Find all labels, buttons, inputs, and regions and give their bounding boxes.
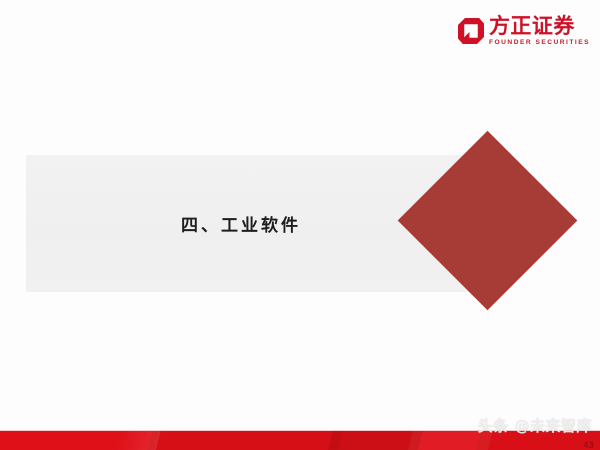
band-facet xyxy=(146,431,344,450)
logo-text-block: 方正证券 FOUNDER SECURITIES xyxy=(489,16,588,47)
slide-canvas: 方正证券 FOUNDER SECURITIES 四、工业软件 头条 @未来智库 … xyxy=(0,0,600,450)
founder-hexagon-mark-icon xyxy=(458,18,484,44)
logo-company-name-cn: 方正证券 xyxy=(489,16,575,37)
page-number: 43 xyxy=(583,440,594,450)
logo-company-name-en: FOUNDER SECURITIES xyxy=(489,40,590,47)
founder-securities-logo: 方正证券 FOUNDER SECURITIES xyxy=(458,16,588,47)
band-facet xyxy=(474,431,600,450)
bottom-red-band xyxy=(0,431,600,450)
